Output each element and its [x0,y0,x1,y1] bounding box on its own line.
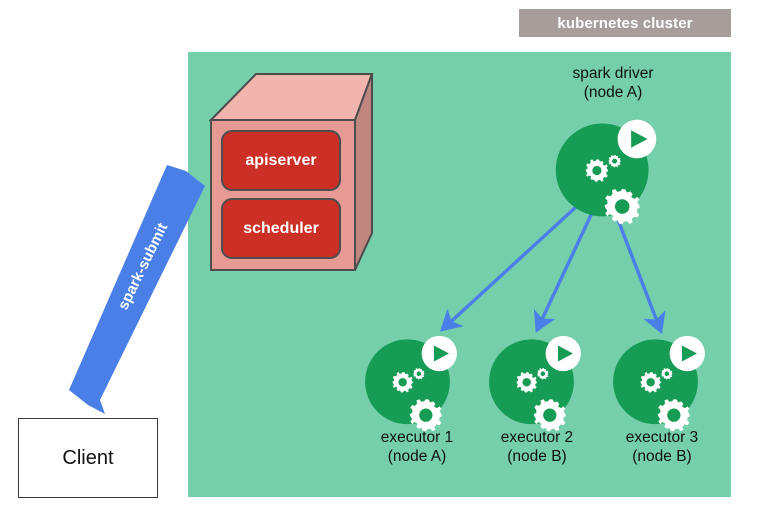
diagram-canvas: kubernetes cluster Client [0,0,761,516]
executor-1-label: executor 1 (node A) [352,428,482,466]
spark-driver-label-line1: spark driver [573,65,654,82]
executor-3-label-line2: (node B) [597,447,727,466]
executor-2-node[interactable] [489,336,581,432]
control-plane-cube [211,74,372,270]
executor-3-label-line1: executor 3 [626,429,698,446]
executor-2-label: executor 2 (node B) [472,428,602,466]
apiserver-label: apiserver [216,152,346,170]
cube-top-face [211,74,372,120]
executor-1-node[interactable] [365,336,457,432]
executor-3-node[interactable] [613,336,705,432]
executor-3-label: executor 3 (node B) [597,428,727,466]
spark-driver-label: spark driver (node A) [533,64,693,102]
connector-driver-executor-1 [444,196,588,328]
executor-1-label-line2: (node A) [352,447,482,466]
scheduler-label: scheduler [216,220,346,238]
executor-1-label-line1: executor 1 [381,429,453,446]
spark-driver-node[interactable] [556,120,657,225]
executor-2-label-line2: (node B) [472,447,602,466]
spark-driver-label-line2: (node A) [533,83,693,102]
executor-2-label-line1: executor 2 [501,429,573,446]
connector-driver-executor-2 [538,200,598,328]
